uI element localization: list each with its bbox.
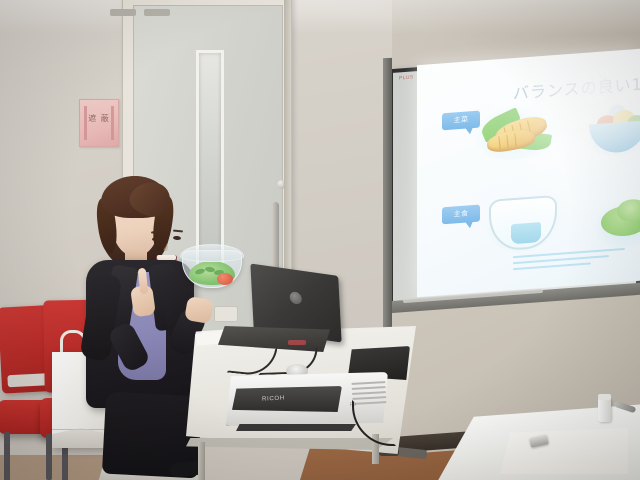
wall-sign-text: 遮 蔽 (80, 114, 118, 123)
salad-bowl-held (182, 244, 240, 288)
slide-dish-tempura (473, 101, 559, 163)
photo-scene: 遮 蔽 PLUS バランスの良い1 主菜 主食 (0, 0, 640, 480)
water-bottle[interactable] (598, 398, 611, 422)
slide-dish-broccoli (593, 198, 640, 251)
laptop-port-indicator (288, 340, 306, 345)
wall-sign: 遮 蔽 (79, 99, 119, 147)
handout-paper[interactable] (500, 428, 628, 474)
slide-title: バランスの良い1 (513, 71, 640, 105)
eyebrow-right (173, 229, 183, 232)
projector-front-panel (232, 386, 342, 412)
slide-bubble-shushoku: 主食 (442, 205, 480, 225)
projected-slide: バランスの良い1 主菜 主食 (417, 49, 640, 297)
laptop-logo-icon (289, 291, 302, 305)
vent-slit (352, 386, 386, 390)
projector-base-shadow (236, 424, 356, 431)
vent-slit (352, 391, 386, 395)
sign-stripe-right (111, 106, 114, 140)
eye-right (173, 236, 181, 241)
slide-line (513, 262, 591, 270)
desk-leg (198, 442, 205, 480)
chair-leg (4, 432, 10, 480)
slide-dish-rice-bowl (485, 193, 557, 254)
stool-slot (144, 9, 170, 16)
ceiling-light-gradient (0, 0, 640, 34)
slide-bubble-label-2: 主食 (442, 208, 480, 221)
tomato-icon (217, 273, 233, 285)
whiteboard-logo: PLUS (399, 74, 414, 81)
sign-stripe-left (84, 106, 87, 140)
projector-brand-label: RICOH (262, 395, 285, 402)
bottle-cap (598, 394, 611, 400)
vent-slit (351, 381, 385, 385)
stool-slot (110, 9, 136, 16)
hand-holding-bowl (184, 296, 214, 324)
slide-dish-side-bowl (583, 100, 640, 159)
bowl-lid (180, 244, 244, 262)
slide-footer-lines (513, 248, 625, 274)
rice-fill (511, 222, 541, 244)
whiteboard-unit: PLUS バランスの良い1 主菜 主食 (381, 52, 640, 452)
